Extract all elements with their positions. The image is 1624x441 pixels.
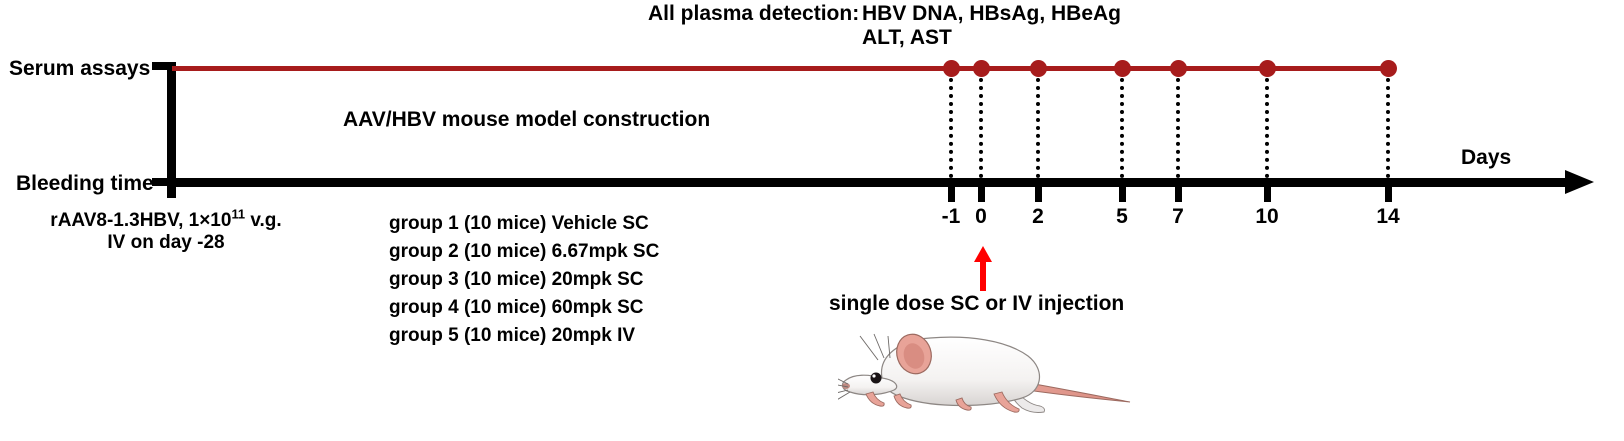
aav-exponent: 11 bbox=[231, 207, 245, 222]
aav-note-line1: rAAV8-1.3HBV, 1×1011 v.g. bbox=[50, 210, 281, 231]
bleeding-time-label: Bleeding time bbox=[16, 172, 154, 196]
timepoint-connector bbox=[1036, 78, 1044, 178]
injection-arrow-icon bbox=[974, 246, 992, 291]
horizontal-axis bbox=[167, 178, 1567, 187]
plasma-detection-values: HBV DNA, HBsAg, HBeAg ALT, AST bbox=[862, 2, 1121, 50]
group-item: group 2 (10 mice) 6.67mpk SC bbox=[389, 238, 659, 266]
x-axis-tick bbox=[1119, 185, 1126, 202]
x-axis-tick-label: 2 bbox=[1032, 205, 1044, 229]
axis-arrowhead-icon bbox=[1565, 170, 1594, 194]
timepoint-connector bbox=[979, 78, 987, 178]
serum-sample-dot bbox=[973, 60, 990, 77]
injection-label: single dose SC or IV injection bbox=[829, 292, 1124, 316]
serum-sample-dot bbox=[943, 60, 960, 77]
timepoint-connector bbox=[1386, 78, 1394, 178]
serum-assays-label: Serum assays bbox=[9, 57, 150, 81]
plasma-detection-label: All plasma detection: bbox=[648, 2, 859, 26]
x-axis-tick bbox=[1385, 185, 1392, 202]
x-axis-title: Days bbox=[1461, 146, 1511, 170]
plasma-detection-values-line1: HBV DNA, HBsAg, HBeAg bbox=[862, 2, 1121, 25]
group-list: group 1 (10 mice) Vehicle SCgroup 2 (10 … bbox=[389, 210, 659, 350]
group-item: group 4 (10 mice) 60mpk SC bbox=[389, 294, 659, 322]
x-axis-tick bbox=[948, 185, 955, 202]
group-item: group 1 (10 mice) Vehicle SC bbox=[389, 210, 659, 238]
serum-sample-dot bbox=[1259, 60, 1276, 77]
x-axis-tick-label: 10 bbox=[1255, 205, 1278, 229]
x-axis-tick-label: 5 bbox=[1116, 205, 1128, 229]
plasma-detection-values-line2: ALT, AST bbox=[862, 26, 952, 49]
x-axis-tick bbox=[978, 185, 985, 202]
aav-dosing-note: rAAV8-1.3HBV, 1×1011 v.g. IV on day -28 bbox=[36, 210, 296, 254]
group-item: group 3 (10 mice) 20mpk SC bbox=[389, 266, 659, 294]
x-axis-tick-label: 7 bbox=[1172, 205, 1184, 229]
model-construction-label: AAV/HBV mouse model construction bbox=[343, 108, 710, 132]
serum-assay-line bbox=[172, 66, 1388, 71]
mouse-illustration bbox=[838, 318, 1138, 428]
timeline-diagram: All plasma detection: HBV DNA, HBsAg, HB… bbox=[0, 0, 1624, 441]
aav-note-line2: IV on day -28 bbox=[36, 232, 296, 254]
x-axis-tick bbox=[1264, 185, 1271, 202]
x-axis-tick-label: 0 bbox=[975, 205, 987, 229]
serum-sample-dot bbox=[1114, 60, 1131, 77]
serum-sample-dot bbox=[1170, 60, 1187, 77]
group-item: group 5 (10 mice) 20mpk IV bbox=[389, 322, 659, 350]
serum-sample-dot bbox=[1030, 60, 1047, 77]
serum-sample-dot bbox=[1380, 60, 1397, 77]
timepoint-connector bbox=[949, 78, 957, 178]
timepoint-connector bbox=[1176, 78, 1184, 178]
timepoint-connector bbox=[1120, 78, 1128, 178]
x-axis-tick-label: 14 bbox=[1376, 205, 1399, 229]
x-axis-tick bbox=[1175, 185, 1182, 202]
timepoint-connector bbox=[1265, 78, 1273, 178]
x-axis-tick-label: -1 bbox=[942, 205, 961, 229]
x-axis-tick bbox=[1035, 185, 1042, 202]
